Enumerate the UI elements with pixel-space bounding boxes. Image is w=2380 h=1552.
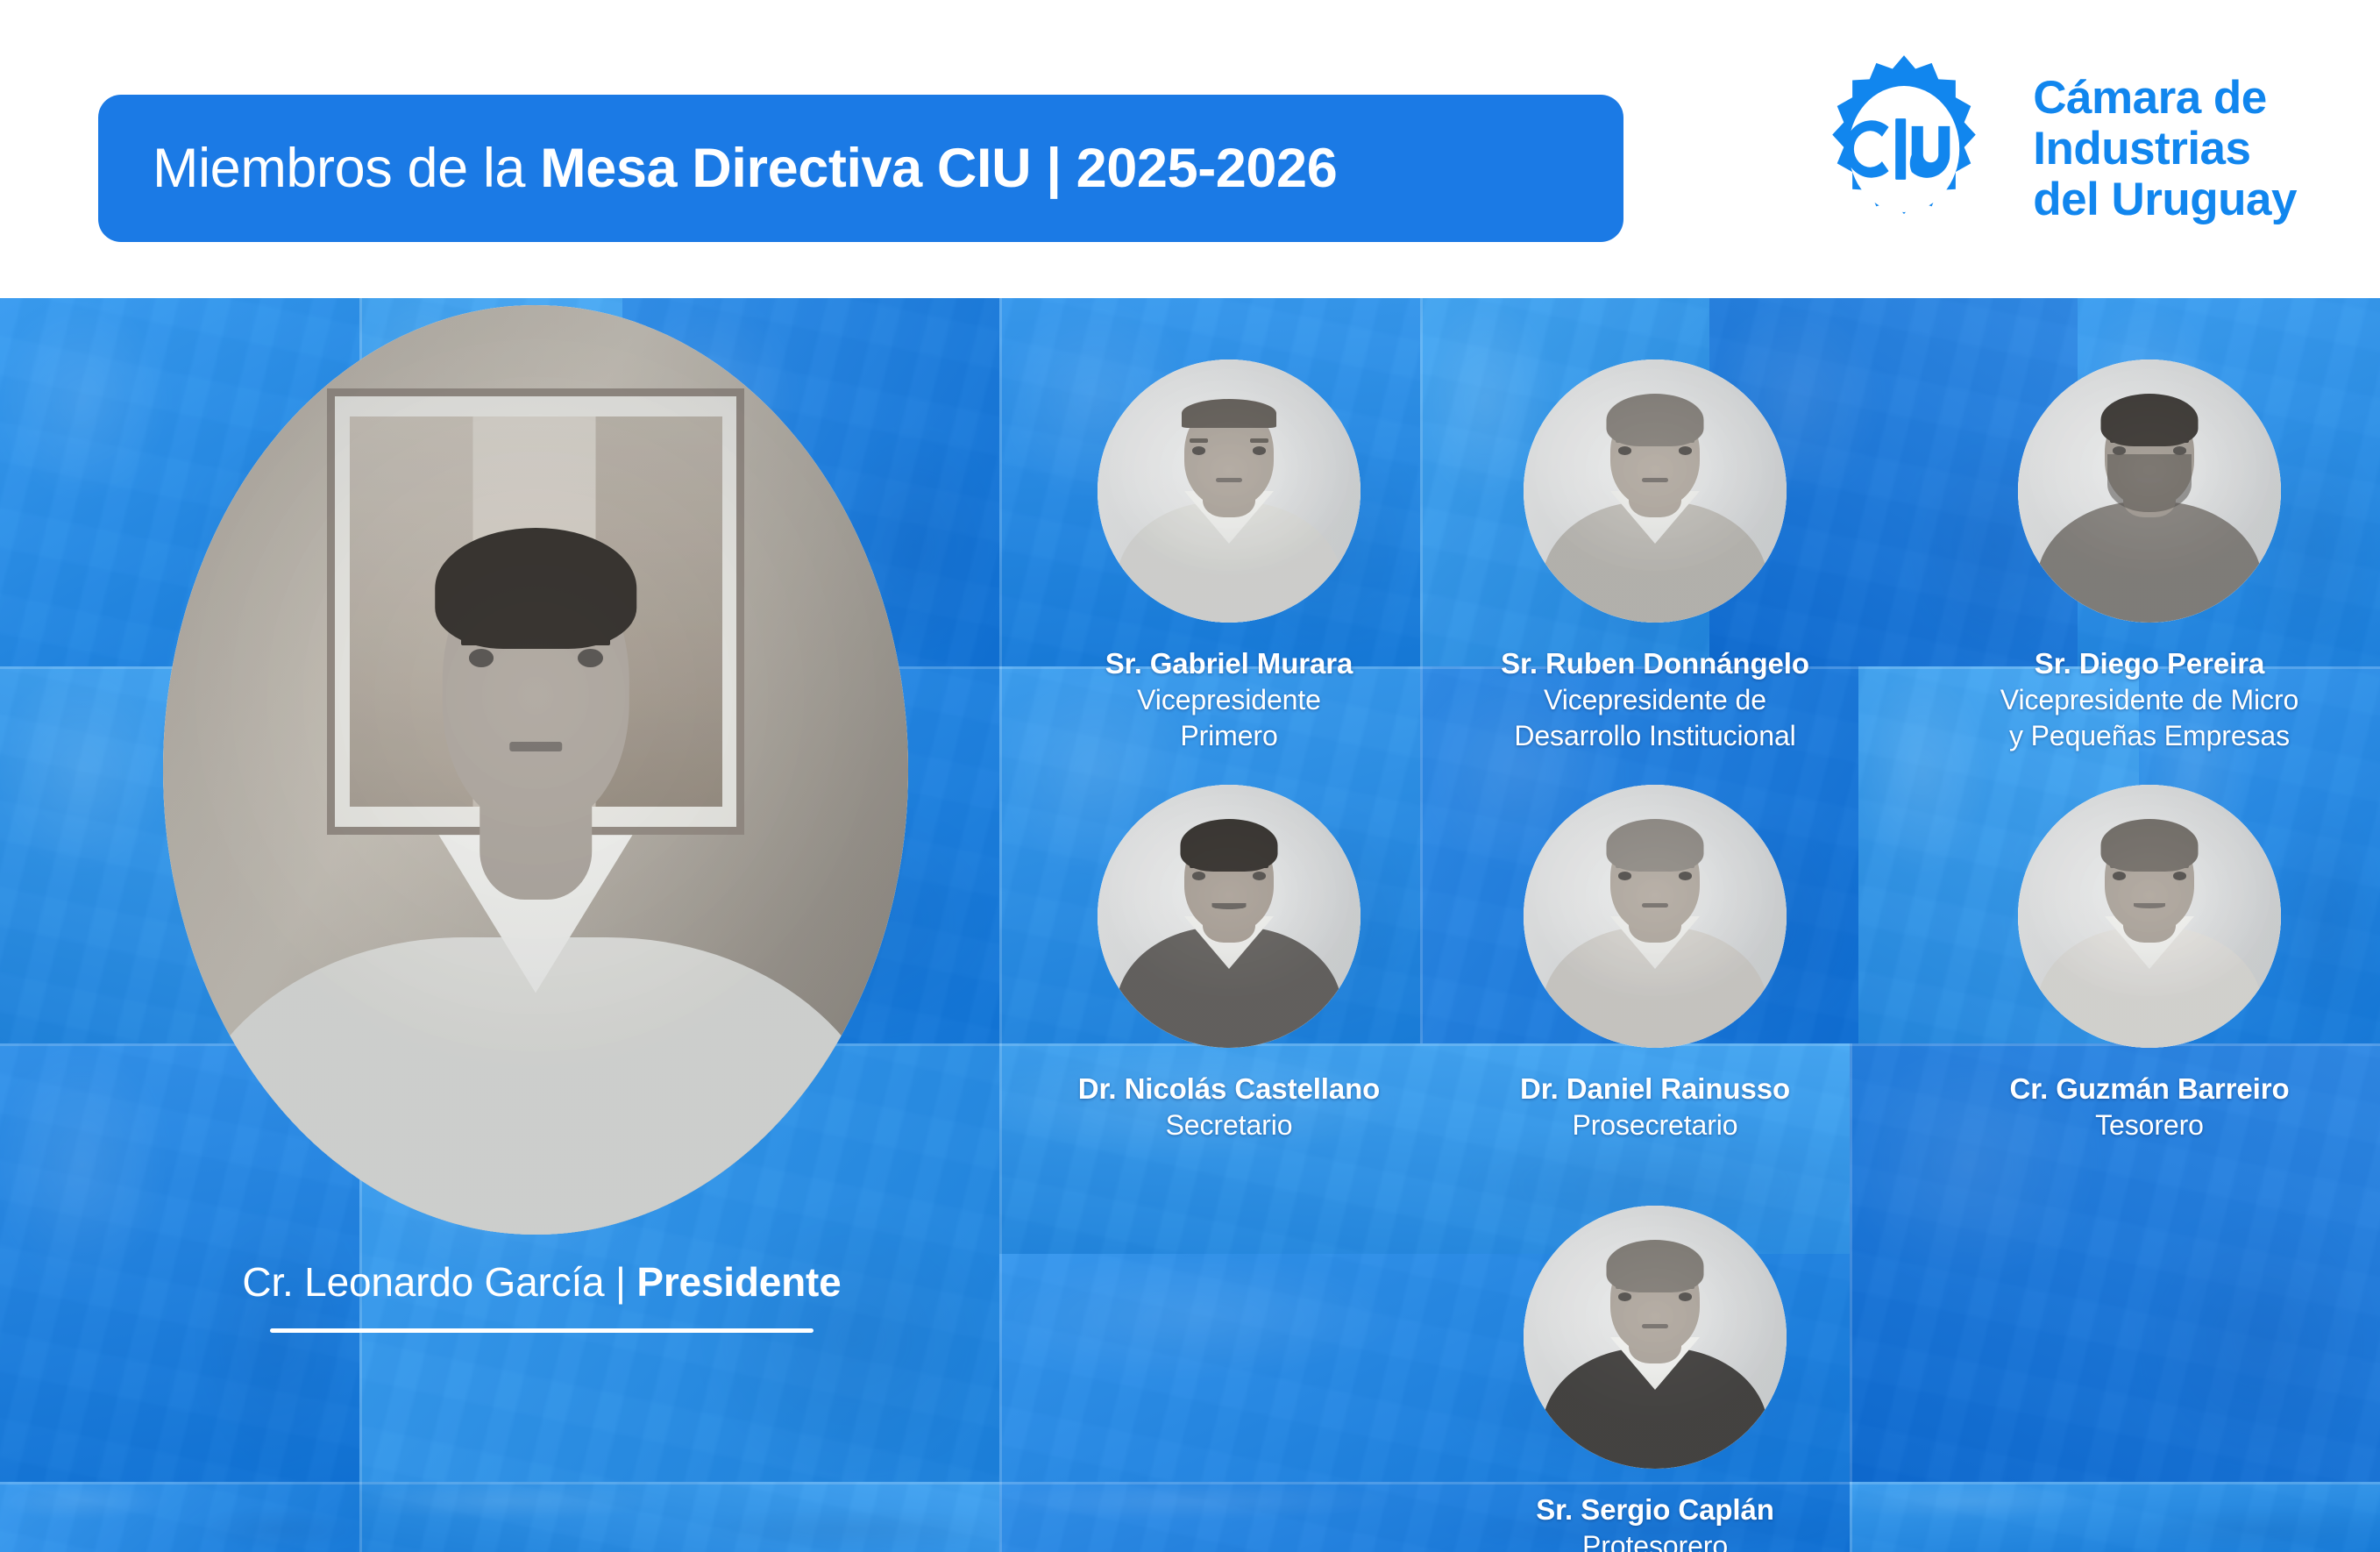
member-name: Cr. Guzmán Barreiro xyxy=(1948,1071,2351,1107)
member-portrait xyxy=(1098,785,1361,1048)
member-portrait xyxy=(2018,360,2281,623)
page-title: Miembros de la Mesa Directiva CIU | 2025… xyxy=(153,141,1337,196)
member-role-line: Vicepresidente de Micro xyxy=(1948,682,2351,718)
members-grid: Sr. Gabriel Murara Vicepresidente Primer… xyxy=(1034,298,2380,1552)
member-card: Cr. Guzmán Barreiro Tesorero xyxy=(1948,785,2351,1143)
president-separator: | xyxy=(604,1259,636,1305)
member-card: Dr. Daniel Rainusso Prosecretario xyxy=(1453,785,1857,1143)
member-caption: Dr. Nicolás Castellano Secretario xyxy=(1027,1071,1431,1143)
title-pill: Miembros de la Mesa Directiva CIU | 2025… xyxy=(98,95,1623,242)
member-card: Sr. Sergio Caplán Protesorero xyxy=(1453,1206,1857,1552)
member-card: Sr. Diego Pereira Vicepresidente de Micr… xyxy=(1948,360,2351,754)
member-role-line: Vicepresidente xyxy=(1027,682,1431,718)
member-caption: Sr. Diego Pereira Vicepresidente de Micr… xyxy=(1948,645,2351,754)
poster-canvas: Miembros de la Mesa Directiva CIU | 2025… xyxy=(0,0,2380,1552)
president-name-line: Cr. Leonardo García | Presidente xyxy=(103,1258,980,1306)
president-portrait xyxy=(163,305,908,1235)
brand-line-2: Industrias xyxy=(2033,124,2297,174)
ciu-gear-icon xyxy=(1808,53,2000,245)
member-name: Dr. Nicolás Castellano xyxy=(1027,1071,1431,1107)
member-role-line: Protesorero xyxy=(1453,1528,1857,1552)
member-portrait xyxy=(1524,1206,1787,1469)
member-role-line: Vicepresidente de xyxy=(1453,682,1857,718)
member-name: Sr. Sergio Caplán xyxy=(1453,1491,1857,1528)
member-role-line: Desarrollo Institucional xyxy=(1453,718,1857,754)
member-caption: Dr. Daniel Rainusso Prosecretario xyxy=(1453,1071,1857,1143)
brand-line-1: Cámara de xyxy=(2033,73,2297,124)
member-card: Sr. Gabriel Murara Vicepresidente Primer… xyxy=(1027,360,1431,754)
header-bar: Miembros de la Mesa Directiva CIU | 2025… xyxy=(0,0,2380,298)
collage-stage: Cr. Leonardo García | Presidente xyxy=(0,298,2380,1552)
member-caption: Sr. Sergio Caplán Protesorero xyxy=(1453,1491,1857,1552)
member-caption: Cr. Guzmán Barreiro Tesorero xyxy=(1948,1071,2351,1143)
page-title-strong: Mesa Directiva CIU | 2025-2026 xyxy=(540,138,1337,199)
member-caption: Sr. Gabriel Murara Vicepresidente Primer… xyxy=(1027,645,1431,754)
member-role-line: Secretario xyxy=(1027,1107,1431,1143)
member-card: Sr. Ruben Donnángelo Vicepresidente de D… xyxy=(1453,360,1857,754)
brand-line-3: del Uruguay xyxy=(2033,174,2297,225)
president-underline xyxy=(270,1328,813,1333)
brand-logo: Cámara de Industrias del Uruguay xyxy=(1808,53,2297,246)
member-card: Dr. Nicolás Castellano Secretario xyxy=(1027,785,1431,1143)
member-name: Sr. Diego Pereira xyxy=(1948,645,2351,682)
president-card: Cr. Leonardo García | Presidente xyxy=(103,298,1033,1552)
member-portrait xyxy=(1098,360,1361,623)
president-caption: Cr. Leonardo García | Presidente xyxy=(103,1258,980,1333)
president-role: Presidente xyxy=(636,1259,841,1305)
member-name: Sr. Ruben Donnángelo xyxy=(1453,645,1857,682)
member-name: Dr. Daniel Rainusso xyxy=(1453,1071,1857,1107)
member-role-line: Prosecretario xyxy=(1453,1107,1857,1143)
member-role-line: Primero xyxy=(1027,718,1431,754)
member-name: Sr. Gabriel Murara xyxy=(1027,645,1431,682)
member-role-line: Tesorero xyxy=(1948,1107,2351,1143)
member-portrait xyxy=(1524,785,1787,1048)
member-portrait xyxy=(1524,360,1787,623)
brand-logo-text: Cámara de Industrias del Uruguay xyxy=(2033,73,2297,226)
member-caption: Sr. Ruben Donnángelo Vicepresidente de D… xyxy=(1453,645,1857,754)
member-portrait xyxy=(2018,785,2281,1048)
president-name: Cr. Leonardo García xyxy=(242,1259,604,1305)
member-role-line: y Pequeñas Empresas xyxy=(1948,718,2351,754)
page-title-prefix: Miembros de la xyxy=(153,138,540,199)
